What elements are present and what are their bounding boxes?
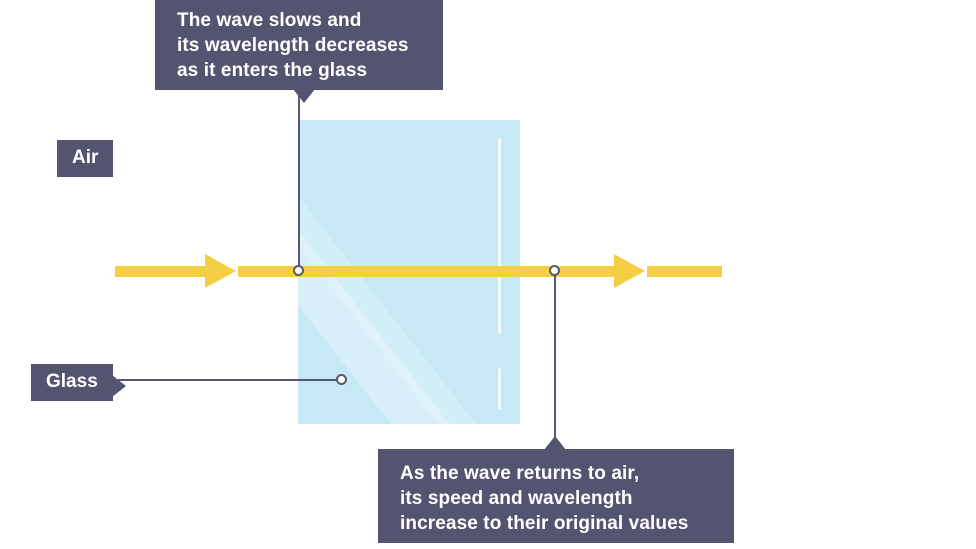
callout-exit-line-2: its speed and wavelength: [400, 486, 712, 511]
glass-edge-line-bottom: [498, 368, 501, 410]
callout-entry-line-2: its wavelength decreases: [177, 33, 421, 58]
label-glass: Glass: [31, 364, 113, 401]
circle-node-icon-glass: [336, 374, 347, 385]
circle-node-icon-exit: [549, 265, 560, 276]
callout-entry-tail-icon: [293, 89, 315, 103]
connector-line-exit: [554, 271, 556, 451]
connector-line-glass-label: [118, 379, 342, 381]
callout-exit: As the wave returns to air, its speed an…: [378, 449, 734, 543]
ray-segment-incident: [115, 266, 207, 277]
circle-node-icon-entry: [293, 265, 304, 276]
glass-edge-line-top: [498, 138, 501, 334]
label-glass-text: Glass: [46, 371, 98, 392]
callout-exit-line-3: increase to their original values: [400, 511, 712, 536]
diagram-canvas: The wave slows and its wavelength decrea…: [0, 0, 976, 549]
callout-entry-line-1: The wave slows and: [177, 8, 421, 33]
callout-exit-line-1: As the wave returns to air,: [400, 461, 712, 486]
callout-entry: The wave slows and its wavelength decrea…: [155, 0, 443, 90]
label-air: Air: [57, 140, 113, 177]
callout-entry-line-3: as it enters the glass: [177, 58, 421, 83]
callout-exit-tail-icon: [544, 436, 566, 450]
arrow-right-icon: [205, 254, 236, 288]
arrow-right-icon: [614, 254, 645, 288]
connector-line-entry: [298, 90, 300, 272]
ray-segment-emergent: [647, 266, 722, 277]
label-glass-pointer-icon: [112, 375, 126, 397]
